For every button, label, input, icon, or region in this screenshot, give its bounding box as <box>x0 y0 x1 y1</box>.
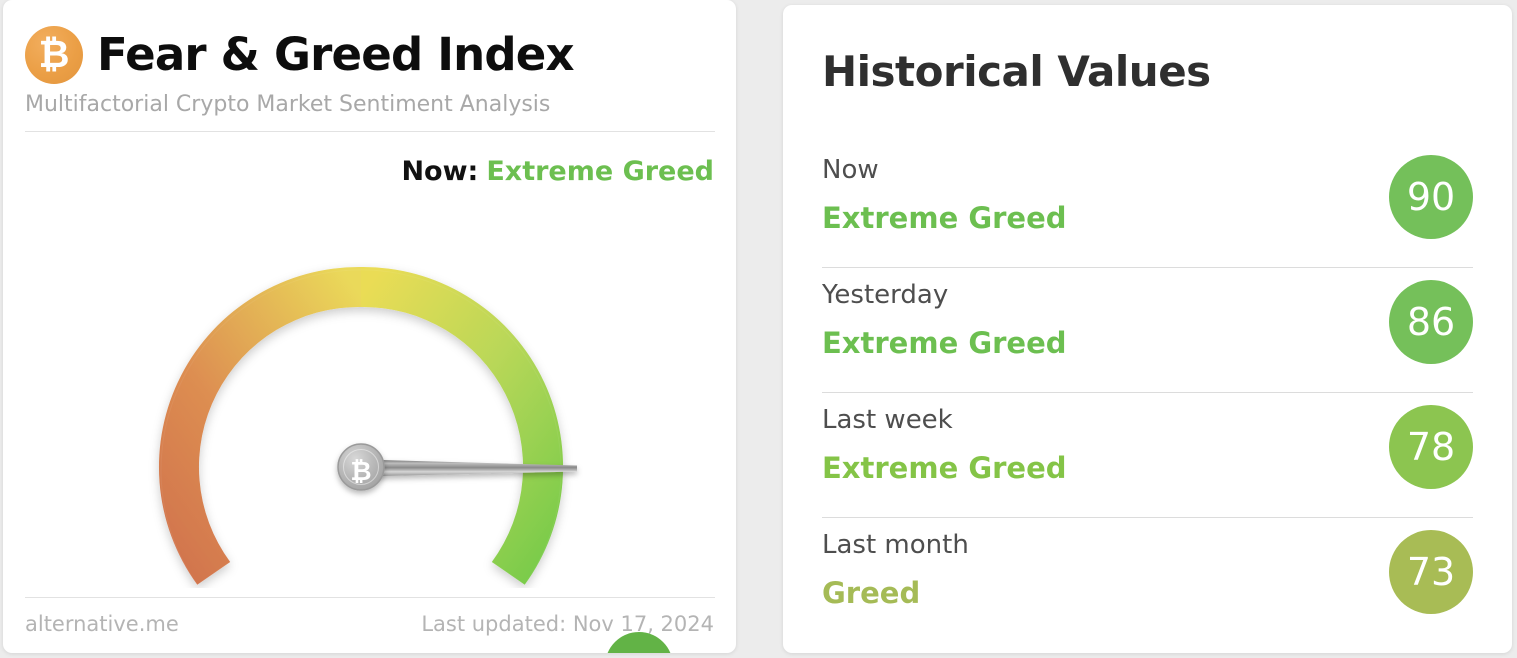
gauge-arc <box>159 267 563 585</box>
now-label: Now: <box>401 156 478 187</box>
historical-values-card: Historical Values Now Extreme Greed 90 Y… <box>783 5 1512 653</box>
row-value-badge: 90 <box>1389 155 1473 239</box>
gauge-svg: ₿ <box>3 196 736 588</box>
source-link[interactable]: alternative.me <box>25 612 179 636</box>
footer-divider <box>25 597 715 598</box>
gauge-chart: ₿ 90 <box>3 196 736 588</box>
row-value: 73 <box>1407 553 1455 591</box>
row-value: 86 <box>1407 303 1455 341</box>
now-value: Extreme Greed <box>486 156 714 187</box>
gauge-card: ₿ Fear & Greed Index Multifactorial Cryp… <box>3 0 736 653</box>
svg-text:₿: ₿ <box>350 457 371 487</box>
row-period-label: Yesterday <box>822 280 948 310</box>
fear-greed-widget: ₿ Fear & Greed Index Multifactorial Cryp… <box>0 0 1517 658</box>
list-item[interactable]: Last month Greed 73 <box>822 518 1473 642</box>
gauge-needle-hub: ₿ <box>338 444 384 490</box>
bitcoin-icon: ₿ <box>25 26 83 84</box>
list-item[interactable]: Now Extreme Greed 90 <box>822 143 1473 268</box>
row-value-badge: 73 <box>1389 530 1473 614</box>
row-classification: Greed <box>822 576 920 610</box>
row-classification: Extreme Greed <box>822 451 1067 485</box>
page-subtitle: Multifactorial Crypto Market Sentiment A… <box>25 92 550 117</box>
historical-list: Now Extreme Greed 90 Yesterday Extreme G… <box>822 143 1473 642</box>
row-value-badge: 78 <box>1389 405 1473 489</box>
list-item[interactable]: Last week Extreme Greed 78 <box>822 393 1473 518</box>
list-item[interactable]: Yesterday Extreme Greed 86 <box>822 268 1473 393</box>
header-divider <box>25 131 715 132</box>
row-classification: Extreme Greed <box>822 326 1067 360</box>
gauge-arc-texture <box>161 270 561 585</box>
row-period-label: Last month <box>822 530 969 560</box>
last-updated-text: Last updated: Nov 17, 2024 <box>421 612 714 636</box>
historical-title: Historical Values <box>822 47 1211 96</box>
row-period-label: Now <box>822 155 879 185</box>
row-classification: Extreme Greed <box>822 201 1067 235</box>
row-value-badge: 86 <box>1389 280 1473 364</box>
gauge-value: 90 <box>619 651 658 654</box>
row-period-label: Last week <box>822 405 953 435</box>
row-value: 90 <box>1407 178 1455 216</box>
row-value: 78 <box>1407 428 1455 466</box>
page-title: Fear & Greed Index <box>97 24 574 86</box>
bitcoin-glyph: ₿ <box>39 35 70 73</box>
now-status: Now:Extreme Greed <box>401 156 714 187</box>
gauge-header: ₿ Fear & Greed Index <box>25 24 715 86</box>
